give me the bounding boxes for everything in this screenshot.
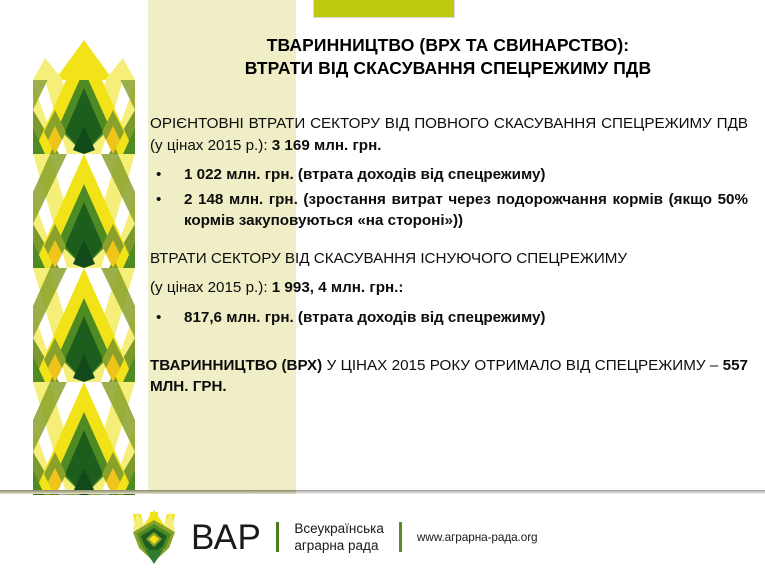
slide-body: ОРІЄНТОВНІ ВТРАТИ СЕКТОРУ ВІД ПОВНОГО СК… <box>150 113 748 406</box>
bullet-list-existing-regime: •817,6 млн. грн. (втрата доходів від спе… <box>150 307 748 329</box>
paragraph-cattle-summary: ТВАРИННИЦТВО (ВРХ) У ЦІНАХ 2015 РОКУ ОТР… <box>150 355 748 398</box>
footer-divider-rule-1 <box>276 522 279 552</box>
bullet-text-2: 2 148 млн. грн. (зростання витрат через … <box>184 191 748 230</box>
paragraph-existing-regime-heading: ВТРАТИ СЕКТОРУ ВІД СКАСУВАННЯ ІСНУЮЧОГО … <box>150 248 748 270</box>
page-title: ТВАРИННИЦТВО (ВРХ ТА СВИНАРСТВО): ВТРАТИ… <box>148 34 748 80</box>
bullet-glyph-icon: • <box>156 307 161 329</box>
bullet-text-3: 817,6 млн. грн. (втрата доходів від спец… <box>184 309 545 326</box>
list-item: •817,6 млн. грн. (втрата доходів від спе… <box>150 307 748 329</box>
bullet-glyph-icon: • <box>156 189 161 211</box>
list-item: •1 022 млн. грн. (втрата доходів від спе… <box>150 164 748 186</box>
paragraph-total-losses: ОРІЄНТОВНІ ВТРАТИ СЕКТОРУ ВІД ПОВНОГО СК… <box>150 113 748 156</box>
decorative-chevron-pattern <box>33 40 135 495</box>
bullet-list-full-abolition: •1 022 млн. грн. (втрата доходів від спе… <box>150 164 748 232</box>
title-line-2: ВТРАТИ ВІД СКАСУВАННЯ СПЕЦРЕЖИМУ ПДВ <box>148 57 748 80</box>
paragraph-existing-regime-value: 1 993, 4 млн. грн.: <box>272 279 404 296</box>
paragraph-cattle-text: У ЦІНАХ 2015 РОКУ ОТРИМАЛО ВІД СПЕЦРЕЖИМ… <box>322 357 722 374</box>
paragraph-cattle-subject: ТВАРИННИЦТВО (ВРХ) <box>150 357 322 374</box>
var-trident-logo-icon <box>131 510 177 564</box>
spacer <box>150 335 748 355</box>
bullet-glyph-icon: • <box>156 164 161 186</box>
footer-content: ВАР Всеукраїнська аграрна рада www.аграр… <box>131 510 538 564</box>
slide-canvas: ТВАРИННИЦТВО (ВРХ ТА СВИНАРСТВО): ВТРАТИ… <box>0 0 765 574</box>
paragraph-total-losses-text: ОРІЄНТОВНІ ВТРАТИ СЕКТОРУ ВІД ПОВНОГО СК… <box>150 115 748 154</box>
footer-divider-rule-2 <box>399 522 402 552</box>
footer-divider-left-segment <box>0 490 296 494</box>
paragraph-existing-regime-amount: (у цінах 2015 р.): 1 993, 4 млн. грн.: <box>150 277 748 299</box>
organization-name: Всеукраїнська аграрна рада <box>294 520 383 555</box>
brand-wordmark: ВАР <box>191 520 261 555</box>
website-url: www.аграрна-рада.org <box>417 530 538 544</box>
bullet-text-1: 1 022 млн. грн. (втрата доходів від спец… <box>184 166 545 183</box>
footer: ВАР Всеукраїнська аграрна рада www.аграр… <box>0 500 765 574</box>
top-accent-bar <box>313 0 455 18</box>
paragraph-total-losses-amount: 3 169 млн. грн. <box>272 137 382 154</box>
footer-divider <box>0 490 765 494</box>
paragraph-existing-regime-prefix: (у цінах 2015 р.): <box>150 279 272 296</box>
spacer <box>150 238 748 248</box>
list-item: •2 148 млн. грн. (зростання витрат через… <box>150 189 748 232</box>
title-line-1: ТВАРИННИЦТВО (ВРХ ТА СВИНАРСТВО): <box>148 34 748 57</box>
